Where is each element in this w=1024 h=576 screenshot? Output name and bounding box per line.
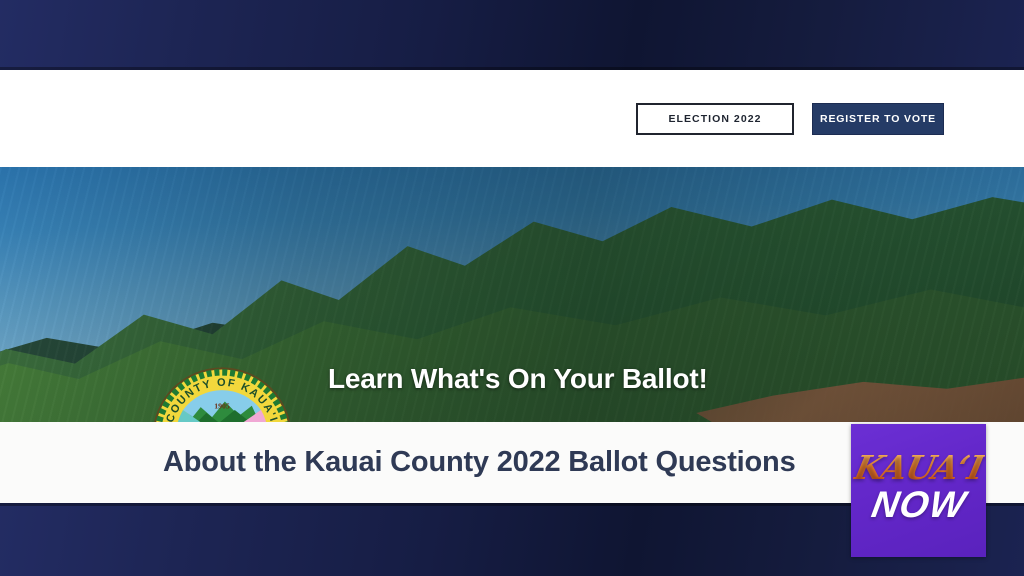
register-to-vote-button[interactable]: REGISTER TO VOTE	[812, 103, 944, 135]
watermark-kauai-text: KAUAʻI	[851, 451, 985, 484]
election-2022-button[interactable]: ELECTION 2022	[636, 103, 794, 135]
site-navbar: ELECTION 2022 REGISTER TO VOTE	[0, 70, 1024, 167]
county-seal: THE GARDEN ISLAND 1905 COUNTY OF KAUA'I …	[151, 366, 293, 422]
top-letterbox-band	[0, 0, 1024, 70]
kauai-now-watermark-logo: KAUAʻI NOW	[851, 424, 986, 557]
seal-year: 1905	[214, 402, 230, 411]
about-heading: About the Kauai County 2022 Ballot Quest…	[163, 446, 796, 479]
screenshot-root: ELECTION 2022 REGISTER TO VOTE	[0, 0, 1024, 576]
hero-copy: Learn What's On Your Ballot! In the 2022…	[328, 363, 908, 422]
hero-banner: THE GARDEN ISLAND 1905 COUNTY OF KAUA'I …	[0, 167, 1024, 422]
county-of-kauai-seal-icon: THE GARDEN ISLAND 1905 COUNTY OF KAUA'I …	[151, 366, 293, 422]
watermark-now-text: NOW	[869, 486, 969, 523]
hero-heading: Learn What's On Your Ballot!	[328, 363, 908, 395]
